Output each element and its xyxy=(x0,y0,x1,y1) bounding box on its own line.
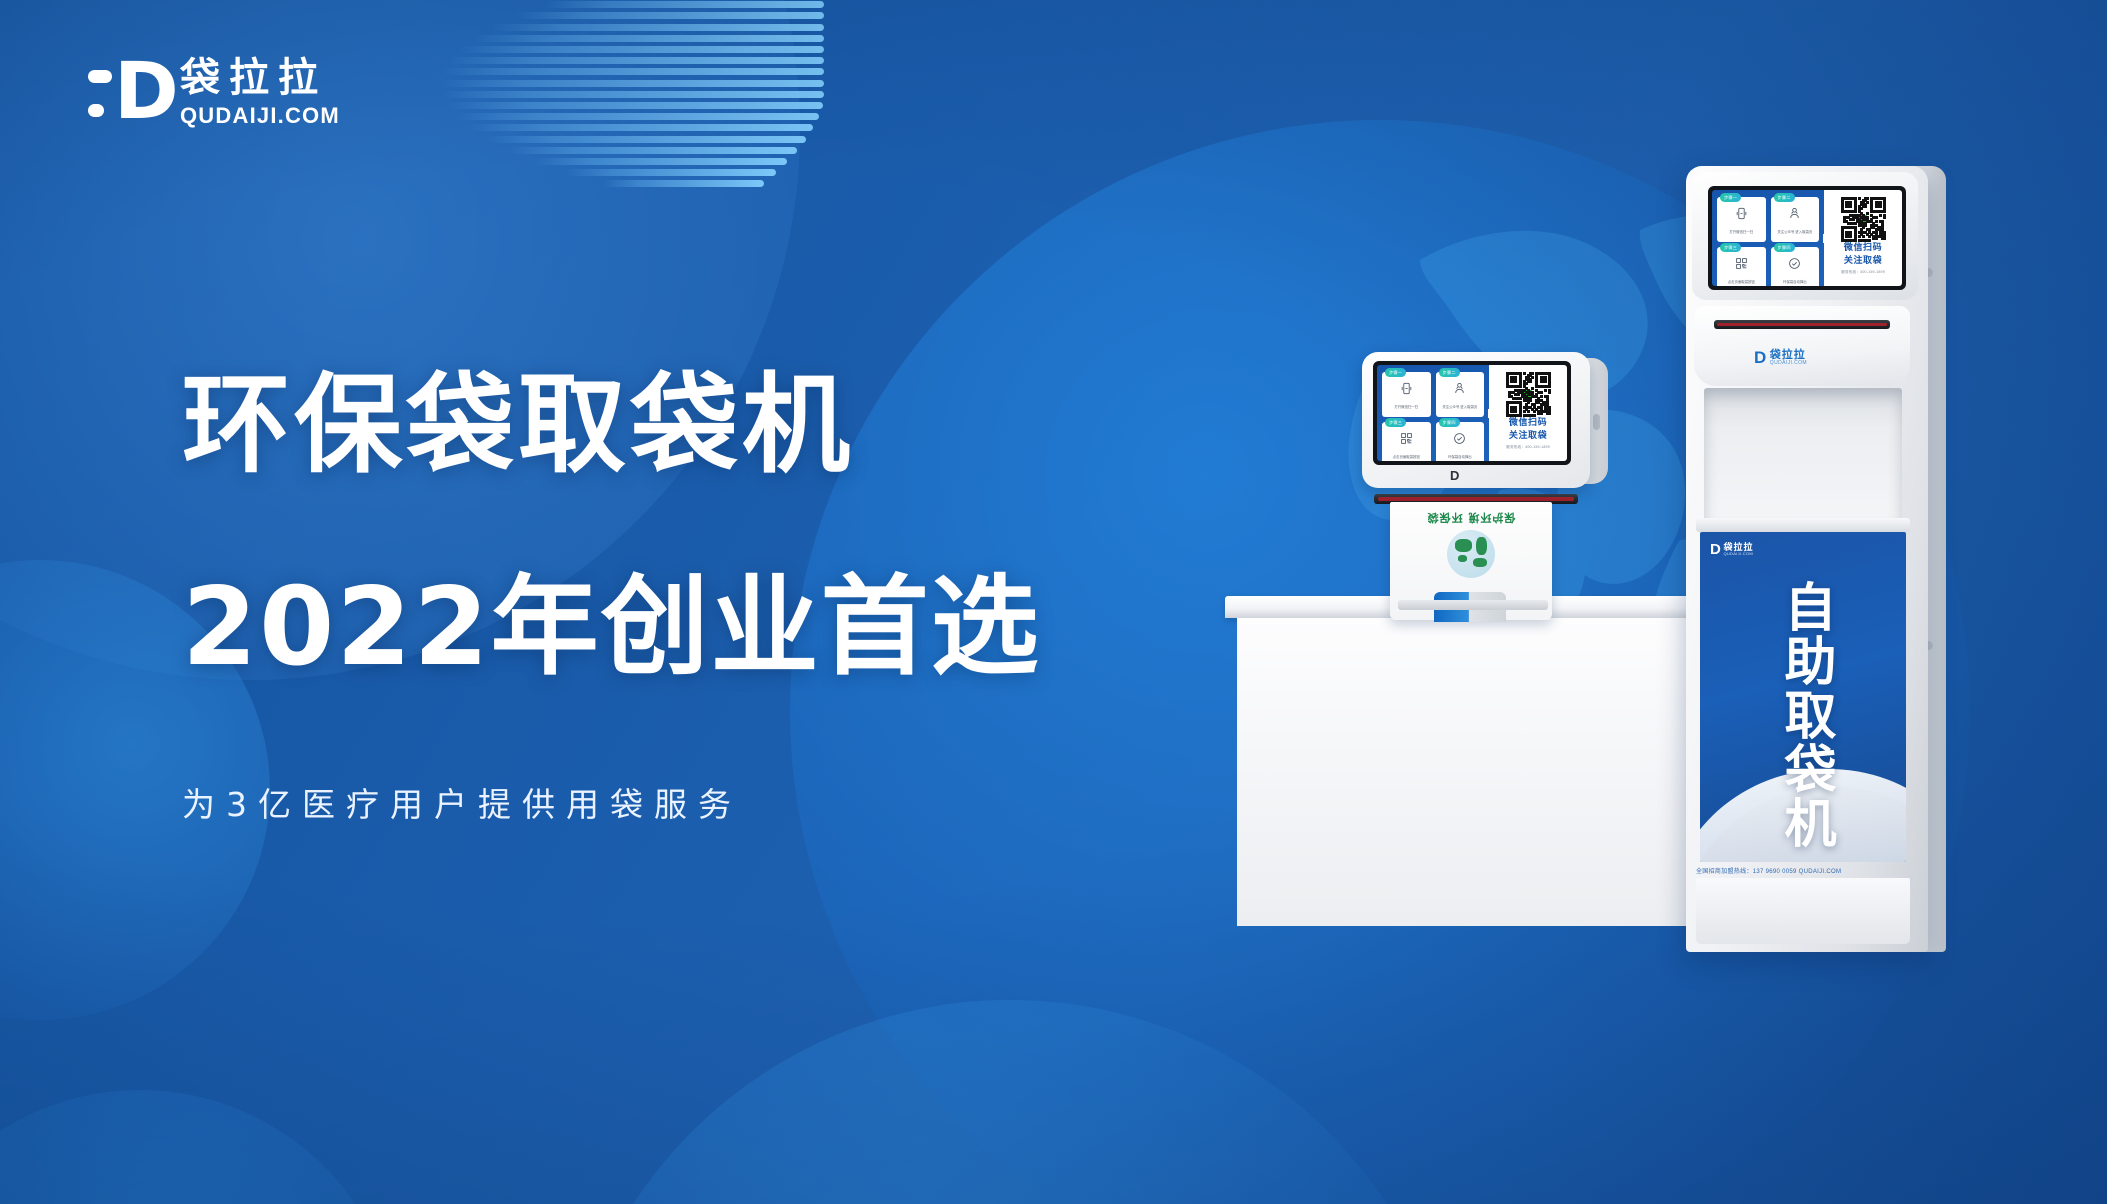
floor-kiosk-shelf xyxy=(1696,518,1910,532)
step-caption: 打开微信扫一扫 xyxy=(1728,230,1754,234)
panel-logo-name-english: QUDAIJI.COM xyxy=(1723,552,1753,556)
floor-kiosk-footnote: 全国招商加盟热线：137 9690 0059 QUDAIJI.COM xyxy=(1696,866,1896,875)
qr-module xyxy=(1548,385,1551,388)
qr-module xyxy=(1548,391,1551,394)
logo-text: 袋拉拉 QUDAIJI.COM xyxy=(180,57,340,130)
eco-bag-earth-icon xyxy=(1447,530,1495,578)
qr-module xyxy=(1529,380,1532,383)
qr-module xyxy=(1544,389,1547,392)
qr-module xyxy=(1858,197,1861,200)
qr-module xyxy=(1517,393,1520,396)
qr-module xyxy=(1540,412,1543,415)
hood-logo-name-english: QUDAIJI.COM xyxy=(1770,361,1807,366)
qr-code-icon xyxy=(1384,432,1429,445)
slot-red-strip-icon xyxy=(1717,323,1887,326)
qr-module xyxy=(1852,218,1855,221)
qr-module xyxy=(1866,212,1869,215)
step-badge: 步骤四 xyxy=(1439,418,1460,427)
qr-module xyxy=(1858,235,1861,238)
floor-kiosk-hood-logo: D 袋拉拉 QUDAIJI.COM xyxy=(1754,348,1807,368)
desktop-bag-dispenser[interactable]: 步骤一打开微信扫一扫步骤二关注公众号 进入取袋页步骤三点击页面取袋按钮步骤四环保… xyxy=(1362,352,1622,620)
hero-subtitle: 为3亿医疗用户提供用袋服务 xyxy=(182,778,1041,826)
wechat-qr-code-icon[interactable] xyxy=(1506,372,1550,416)
qr-module xyxy=(1875,216,1878,219)
step-caption: 点击页面取袋按钮 xyxy=(1392,455,1421,459)
phone-scan-icon xyxy=(1384,382,1429,395)
qr-module xyxy=(1868,235,1871,238)
floor-kiosk-pickup-cavity xyxy=(1704,388,1902,522)
qr-module xyxy=(1883,210,1886,213)
qr-hotline-text: 服务热线：400-159-1899 xyxy=(1506,445,1550,450)
qr-code-icon xyxy=(1719,257,1764,270)
hood-logo-d-mark-icon: D xyxy=(1754,348,1765,368)
qr-module xyxy=(1875,237,1878,240)
headline-line-1: 环保袋取袋机 xyxy=(182,372,1041,480)
kiosk-step-card-1[interactable]: 步骤一打开微信扫一扫 xyxy=(1717,197,1766,242)
step-badge: 步骤二 xyxy=(1439,368,1460,377)
eco-bag-slogan: 保护环境 环保袋 xyxy=(1390,510,1552,526)
qr-module xyxy=(1519,414,1522,417)
qr-module xyxy=(1519,385,1522,388)
kiosk-qr-panel: 微信扫码 关注取袋 服务热线：400-159-1899 xyxy=(1824,190,1902,286)
check-circle-icon xyxy=(1438,432,1483,445)
qr-module xyxy=(1514,410,1517,413)
logo-name-english: QUDAIJI.COM xyxy=(180,102,340,130)
kiosk-steps-panel: 步骤一打开微信扫一扫步骤二关注公众号 进入取袋页步骤三点击页面取袋按钮步骤四环保… xyxy=(1377,365,1489,461)
kiosk-step-card-3[interactable]: 步骤三点击页面取袋按钮 xyxy=(1382,422,1431,461)
kiosk-steps-panel: 步骤一打开微信扫一扫步骤二关注公众号 进入取袋页步骤三点击页面取袋按钮步骤四环保… xyxy=(1712,190,1824,286)
kiosk-step-card-2[interactable]: 步骤二关注公众号 进入取袋页 xyxy=(1436,372,1485,417)
qr-module xyxy=(1540,391,1543,394)
logo-dash-top-icon xyxy=(88,70,112,83)
floor-kiosk-display[interactable]: 步骤一打开微信扫一扫步骤二关注公众号 进入取袋页步骤三点击页面取袋按钮步骤四环保… xyxy=(1708,186,1906,290)
step-caption: 关注公众号 进入取袋页 xyxy=(1441,405,1478,409)
qr-module xyxy=(1883,237,1886,240)
qr-module xyxy=(1862,235,1865,238)
desktop-kiosk-base-stand xyxy=(1398,600,1548,610)
floor-standing-bag-dispenser[interactable]: 步骤一打开微信扫一扫步骤二关注公众号 进入取袋页步骤三点击页面取袋按钮步骤四环保… xyxy=(1686,166,1946,952)
qr-module xyxy=(1523,372,1526,375)
step-caption: 关注公众号 进入取袋页 xyxy=(1776,230,1813,234)
qr-module xyxy=(1854,210,1857,213)
qr-title-line-2: 关注取袋 xyxy=(1844,256,1882,267)
promo-banner: D 袋拉拉 QUDAIJI.COM 环保袋取袋机 2022年创业首选 为3亿医疗… xyxy=(0,0,2107,1204)
step-caption: 点击页面取袋按钮 xyxy=(1727,280,1756,284)
floor-kiosk-head: 步骤一打开微信扫一扫步骤二关注公众号 进入取袋页步骤三点击页面取袋按钮步骤四环保… xyxy=(1692,172,1918,300)
kiosk-step-card-2[interactable]: 步骤二关注公众号 进入取袋页 xyxy=(1771,197,1820,242)
phone-scan-icon xyxy=(1719,207,1764,220)
kiosk-qr-panel: 微信扫码 关注取袋 服务热线：400-159-1899 xyxy=(1489,365,1567,461)
floor-kiosk-blue-panel: D 袋拉拉 QUDAIJI.COM 自助取袋机 xyxy=(1700,532,1906,862)
qr-title-line-2: 关注取袋 xyxy=(1509,431,1547,442)
qr-module xyxy=(1854,222,1857,225)
qr-hotline-text: 服务热线：400-159-1899 xyxy=(1841,270,1885,275)
qr-module xyxy=(1854,239,1857,242)
wechat-follow-icon xyxy=(1438,382,1483,395)
step-badge: 步骤二 xyxy=(1774,193,1795,202)
desktop-kiosk-body: 步骤一打开微信扫一扫步骤二关注公众号 进入取袋页步骤三点击页面取袋按钮步骤四环保… xyxy=(1362,352,1590,488)
desktop-kiosk-bezel-logo: D xyxy=(1450,468,1458,483)
logo-dash-bottom-icon xyxy=(88,104,104,117)
kiosk-step-card-1[interactable]: 步骤一打开微信扫一扫 xyxy=(1382,372,1431,417)
logo-letter-d: D xyxy=(114,57,162,129)
qr-module xyxy=(1864,205,1867,208)
step-badge: 步骤三 xyxy=(1720,243,1741,252)
floor-kiosk-base xyxy=(1696,878,1910,944)
qr-module xyxy=(1527,410,1530,413)
hero-copy: 环保袋取袋机 2022年创业首选 为3亿医疗用户提供用袋服务 xyxy=(182,372,1041,826)
headline-line-2: 2022年创业首选 xyxy=(182,574,1041,682)
qr-module xyxy=(1548,412,1551,415)
step-badge: 步骤三 xyxy=(1385,418,1406,427)
qr-module xyxy=(1533,410,1536,413)
floor-kiosk-bag-slot xyxy=(1714,320,1890,329)
kiosk-step-card-4[interactable]: 步骤四环保袋自动弹出 xyxy=(1771,247,1820,286)
floor-kiosk-dispense-hood: D 袋拉拉 QUDAIJI.COM xyxy=(1694,306,1910,386)
logo-d-mark-icon: D xyxy=(88,56,162,130)
qr-module xyxy=(1531,387,1534,390)
qr-module xyxy=(1883,216,1886,219)
qr-module xyxy=(1514,380,1517,383)
desktop-kiosk-display[interactable]: 步骤一打开微信扫一扫步骤二关注公众号 进入取袋页步骤三点击页面取袋按钮步骤四环保… xyxy=(1373,361,1571,465)
step-badge: 步骤一 xyxy=(1385,368,1406,377)
step-caption: 环保袋自动弹出 xyxy=(1447,455,1473,459)
kiosk-screen-ui[interactable]: 步骤一打开微信扫一扫步骤二关注公众号 进入取袋页步骤三点击页面取袋按钮步骤四环保… xyxy=(1377,365,1567,461)
step-badge: 步骤一 xyxy=(1720,193,1741,202)
desktop-kiosk-side-button[interactable] xyxy=(1593,414,1600,430)
qr-module xyxy=(1519,397,1522,400)
wechat-qr-code-icon[interactable] xyxy=(1841,197,1885,241)
qr-module xyxy=(1544,380,1547,383)
panel-brand-logo: D 袋拉拉 QUDAIJI.COM xyxy=(1710,541,1753,558)
logo-name-chinese: 袋拉拉 xyxy=(180,57,340,99)
panel-logo-d-mark-icon: D xyxy=(1710,541,1719,558)
kiosk-screen-ui[interactable]: 步骤一打开微信扫一扫步骤二关注公众号 进入取袋页步骤三点击页面取袋按钮步骤四环保… xyxy=(1712,190,1902,286)
step-caption: 打开微信扫一扫 xyxy=(1393,405,1419,409)
qr-title-line-1: 微信扫码 xyxy=(1844,243,1882,254)
floor-kiosk-vertical-title: 自助取袋机 xyxy=(1774,580,1832,850)
qr-module xyxy=(1523,410,1526,413)
step-caption: 环保袋自动弹出 xyxy=(1782,280,1808,284)
kiosk-step-card-3[interactable]: 步骤三点击页面取袋按钮 xyxy=(1717,247,1766,286)
step-badge: 步骤四 xyxy=(1774,243,1795,252)
check-circle-icon xyxy=(1773,257,1818,270)
qr-module xyxy=(1533,414,1536,417)
qr-module xyxy=(1868,239,1871,242)
kiosk-step-card-4[interactable]: 步骤四环保袋自动弹出 xyxy=(1436,422,1485,461)
brand-logo[interactable]: D 袋拉拉 QUDAIJI.COM xyxy=(88,56,340,130)
qr-title-line-1: 微信扫码 xyxy=(1509,418,1547,429)
qr-module xyxy=(1849,235,1852,238)
slot-red-strip-icon xyxy=(1378,497,1574,501)
qr-module xyxy=(1849,205,1852,208)
qr-module xyxy=(1879,205,1882,208)
wechat-follow-icon xyxy=(1773,207,1818,220)
qr-module xyxy=(1879,214,1882,217)
